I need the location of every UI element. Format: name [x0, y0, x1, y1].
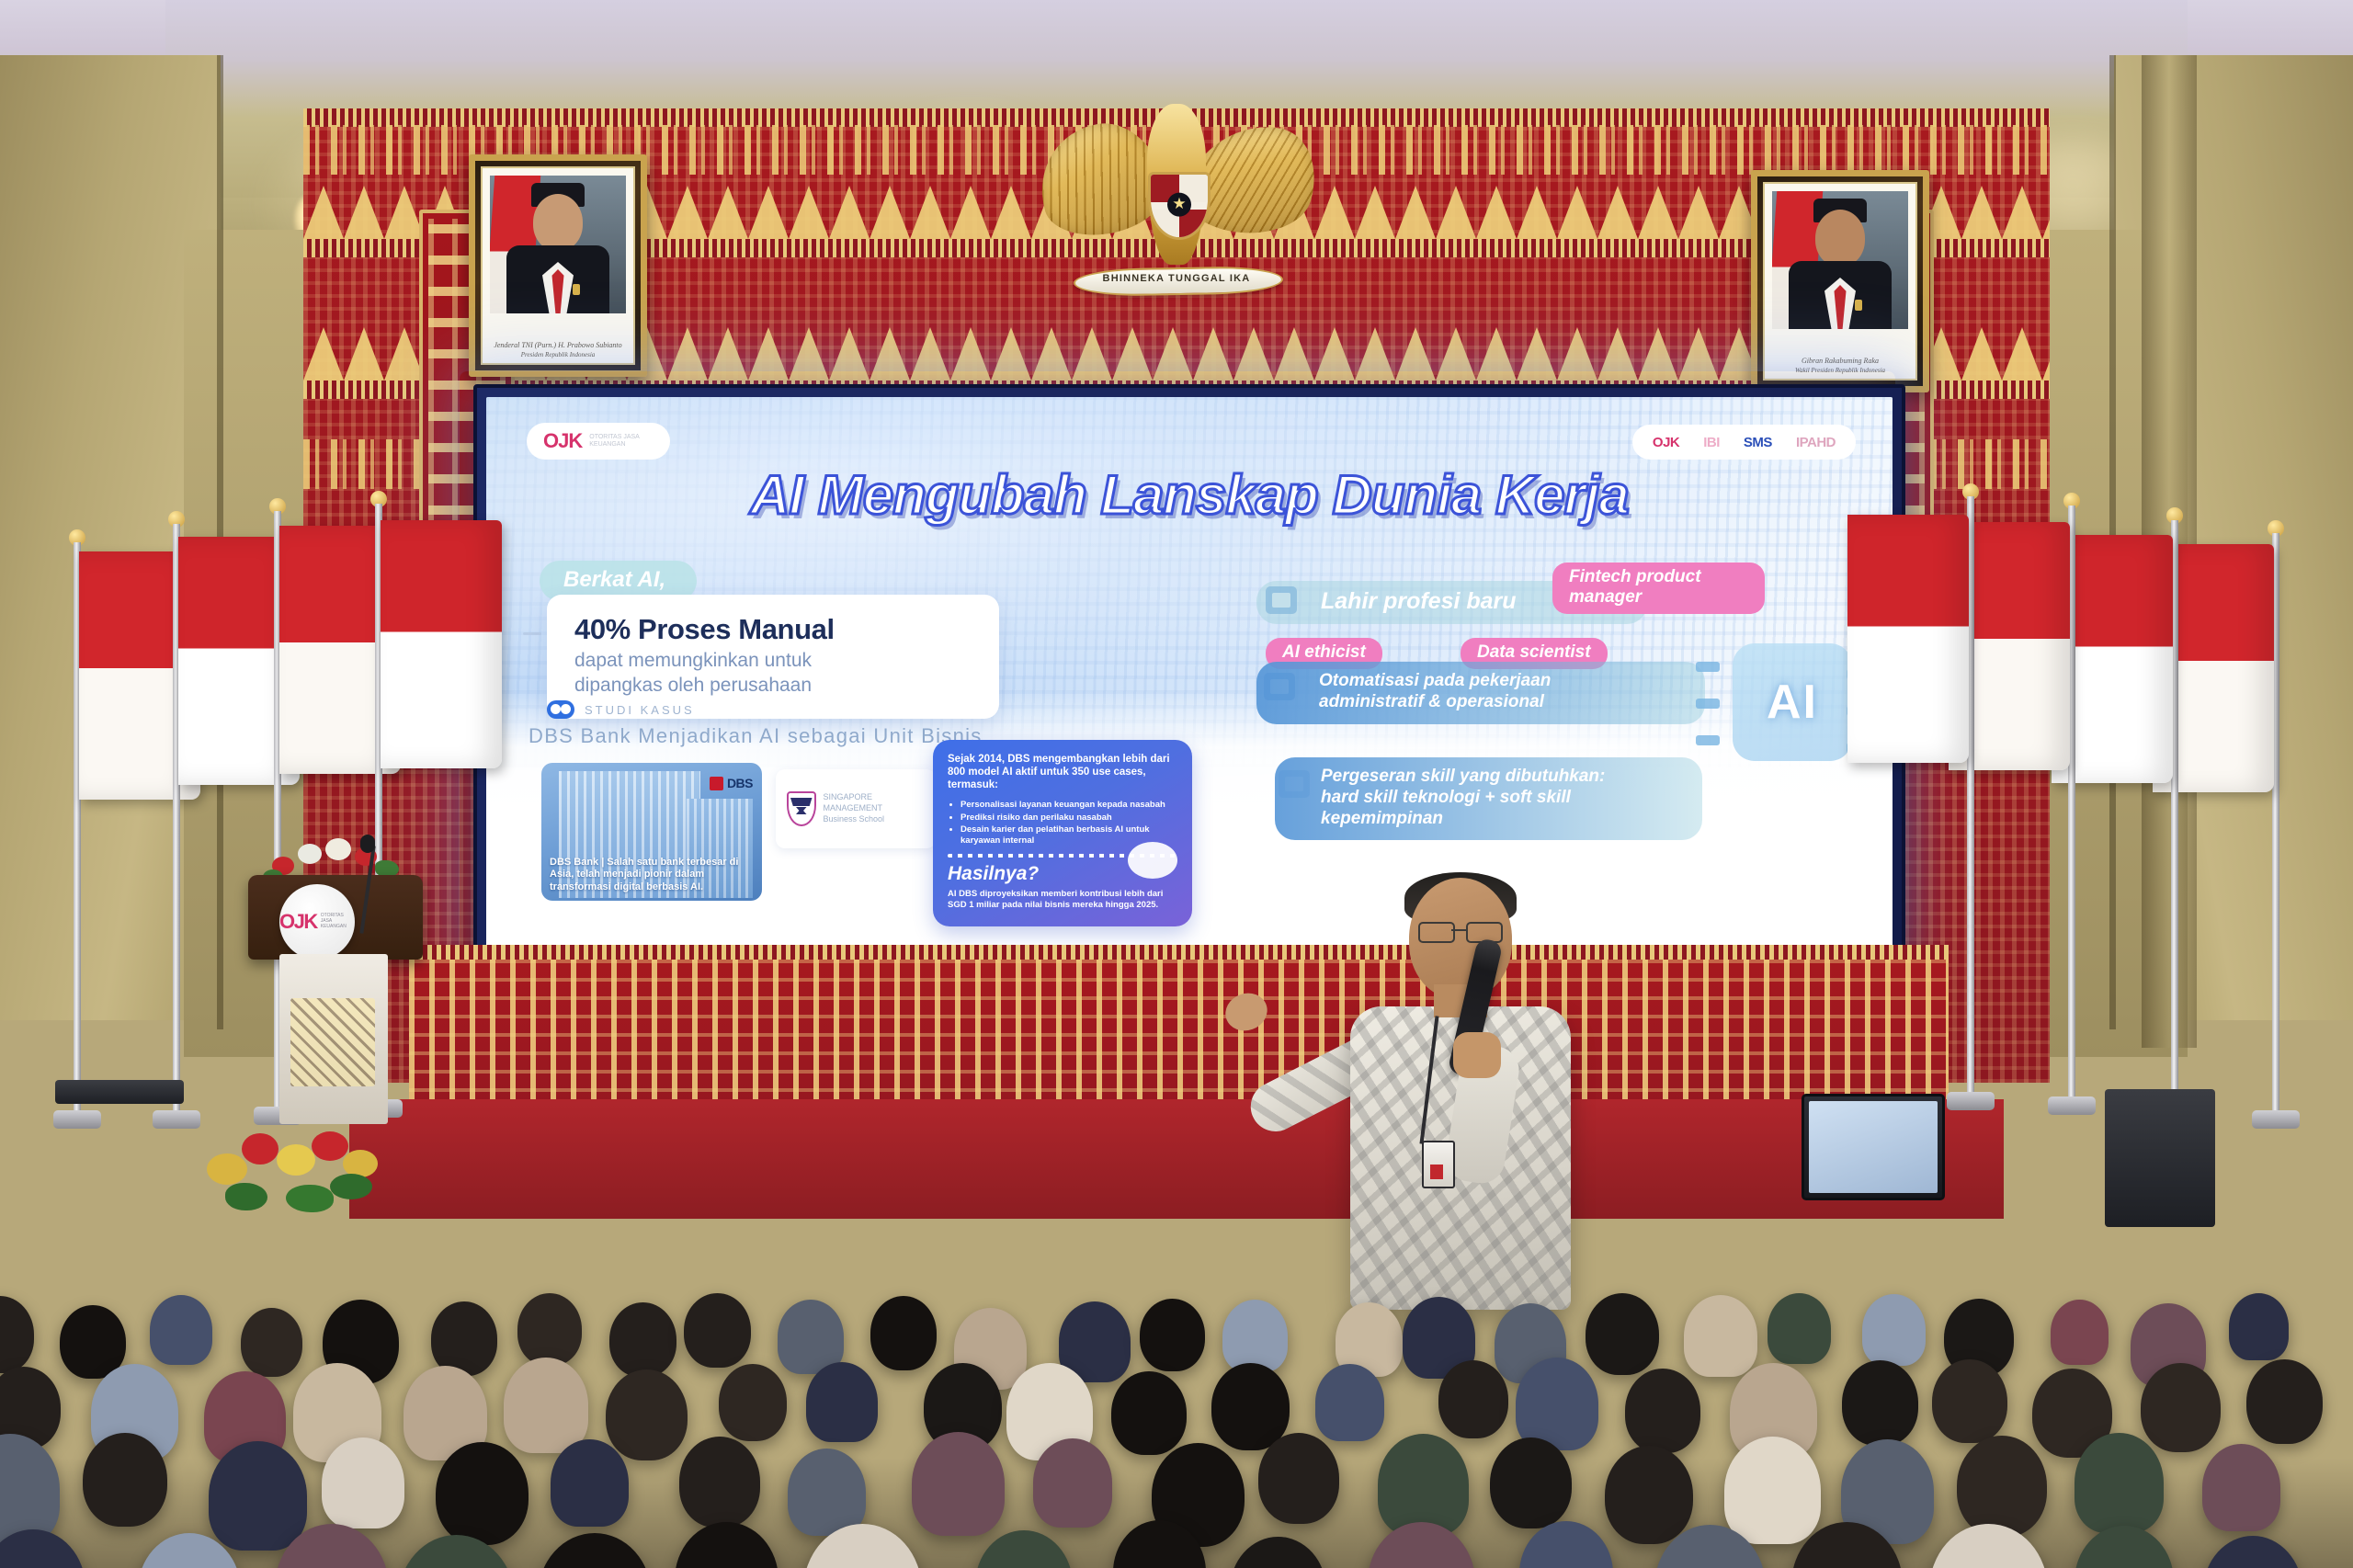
ojk-logo-mark: OJK	[543, 429, 582, 453]
backdrop-triangle	[1436, 327, 1476, 381]
backdrop-triangle	[1597, 186, 1638, 239]
pill-automation-line1: Otomatisasi pada pekerjaan	[1319, 671, 1551, 690]
backdrop-triangle	[789, 327, 829, 381]
backdrop-triangle	[910, 327, 950, 381]
business-school-logo: SINGAPORE MANAGEMENT Business School	[776, 769, 936, 848]
backdrop-triangle	[950, 186, 991, 239]
vice-president-portrait: Gibran Rakabuming Raka Wakil Presiden Re…	[1751, 170, 1929, 392]
shield-crest-icon	[787, 791, 816, 826]
audience-member	[1438, 1360, 1508, 1438]
slide-ojk-logo: OJK OTORITAS JASA KEUANGAN	[527, 423, 670, 460]
audience-member	[517, 1293, 582, 1366]
backdrop-triangle	[1436, 186, 1476, 239]
backdrop-triangle	[950, 327, 991, 381]
backdrop-triangle	[870, 186, 910, 239]
case-study-label-row: STUDI KASUS	[547, 700, 695, 719]
partner-logo-3: IPAHD	[1796, 435, 1836, 450]
dbs-card-intro: Sejak 2014, DBS mengembangkan lebih dari…	[948, 753, 1177, 791]
ai-chip-badge: AI	[1733, 643, 1852, 761]
backdrop-triangle	[1961, 186, 2002, 239]
backdrop-triangle	[1314, 327, 1355, 381]
president-caption: Jenderal TNI (Purn.) H. Prabowo Subianto…	[484, 341, 631, 359]
slide-title: AI Mengubah Lanskap Dunia Kerja	[486, 463, 1893, 527]
audience-member	[1140, 1299, 1205, 1371]
decor-dash	[523, 632, 541, 635]
audience-member	[609, 1302, 676, 1378]
pill-automation-line2: administratif & operasional	[1319, 692, 1544, 711]
backdrop-triangle	[1112, 327, 1153, 381]
backdrop-triangle	[1031, 327, 1072, 381]
decor-bubble	[1128, 842, 1177, 879]
audience-member	[1111, 1371, 1187, 1455]
backdrop-triangle	[303, 327, 344, 381]
audience-member	[241, 1308, 302, 1377]
stat-headline: 40% Proses Manual	[574, 613, 979, 646]
tag-fintech-product-manager: Fintech product manager	[1552, 562, 1765, 614]
chip-leg	[1696, 699, 1720, 709]
audience-member	[1932, 1359, 2007, 1444]
eyeglasses-icon	[1418, 922, 1503, 940]
audience-member	[0, 1434, 60, 1545]
backdrop-triangle	[2002, 327, 2042, 381]
backdrop-triangle	[1638, 186, 1678, 239]
podium-logo-sub2: KEUANGAN	[321, 924, 347, 929]
audience-member	[870, 1296, 937, 1370]
backdrop-triangle	[991, 186, 1031, 239]
case-study-label: STUDI KASUS	[585, 703, 695, 717]
garuda-motto-banner: BHINNEKA TUNGGAL IKA	[1074, 260, 1279, 297]
backdrop-triangle	[1355, 186, 1395, 239]
backdrop-triangle	[1355, 327, 1395, 381]
slide-partner-logos: OJK IBI SMS IPAHD	[1632, 425, 1856, 460]
backdrop-triangle	[303, 186, 344, 239]
audience-member	[1222, 1300, 1288, 1372]
backdrop-triangle	[1517, 327, 1557, 381]
backdrop-triangle	[667, 186, 708, 239]
podium-ojk-logo: OJK OTORITAS JASA KEUANGAN	[279, 884, 355, 960]
audience-member	[679, 1437, 760, 1527]
dbs-result-text: AI DBS diproyeksikan memberi kontribusi …	[948, 889, 1177, 911]
seminar-hall-photo: ★ BHINNEKA TUNGGAL IKA Jenderal TNI (Pur…	[0, 0, 2353, 1568]
backdrop-triangle	[1476, 327, 1517, 381]
audience-member	[431, 1301, 497, 1376]
backdrop-triangle	[708, 327, 748, 381]
audience-member	[322, 1437, 404, 1529]
audience-member	[1211, 1363, 1290, 1450]
dbs-stats-card: Sejak 2014, DBS mengembangkan lebih dari…	[933, 740, 1192, 926]
stat-subtext-line2: dipangkas oleh perusahaan	[574, 675, 812, 696]
backdrop-triangle	[1557, 186, 1597, 239]
backdrop-triangle	[1274, 327, 1314, 381]
audience-member	[788, 1449, 866, 1536]
president-caption-line2: Presiden Republik Indonesia	[484, 351, 631, 359]
audience-member	[1586, 1293, 1659, 1376]
backdrop-triangle	[1557, 327, 1597, 381]
ai-badge-text: AI	[1767, 675, 1818, 730]
backdrop-triangle	[1233, 327, 1274, 381]
backdrop-triangle	[829, 327, 870, 381]
backdrop-triangle	[991, 327, 1031, 381]
audience-member	[2229, 1293, 2289, 1360]
backdrop-triangle	[1395, 327, 1436, 381]
backdrop-triangle	[1638, 327, 1678, 381]
audience-member	[209, 1441, 307, 1551]
backdrop-triangle	[1314, 186, 1355, 239]
ojk-logo-sub1: OTORITAS JASA	[589, 434, 640, 440]
backdrop-triangle	[1153, 327, 1193, 381]
backdrop-triangle	[667, 327, 708, 381]
dbs-card-bullets: Personalisasi layanan keuangan kepada na…	[961, 800, 1177, 846]
backdrop-triangle	[1597, 327, 1638, 381]
audience-member	[551, 1439, 629, 1527]
backdrop-triangle	[1517, 186, 1557, 239]
partner-school-line1: SINGAPORE MANAGEMENT	[824, 792, 883, 812]
dbs-bullet-1: Prediksi risiko dan perilaku nasabah	[961, 812, 1177, 824]
pill-skill-shift: Pergeseran skill yang dibutuhkan: hard s…	[1275, 757, 1702, 840]
pill-skill-join: teknologi +	[1397, 788, 1499, 807]
backdrop-triangle	[1395, 186, 1436, 239]
ojk-logo-sub2: KEUANGAN	[589, 441, 625, 448]
audience-member	[684, 1293, 750, 1368]
led-screen: OJK OTORITAS JASA KEUANGAN OJK IBI SMS I…	[473, 384, 1905, 971]
presentation-slide: OJK OTORITAS JASA KEUANGAN OJK IBI SMS I…	[486, 397, 1893, 958]
vice-president-caption: Gibran Rakabuming Raka Wakil Presiden Re…	[1767, 357, 1914, 375]
partner-logo-2: SMS	[1744, 435, 1772, 450]
audience-member	[1033, 1438, 1113, 1528]
audience-member	[1258, 1433, 1339, 1524]
vp-caption-line2: Wakil Presiden Republik Indonesia	[1767, 367, 1914, 375]
audience	[0, 1017, 2353, 1568]
chip-leg	[1696, 735, 1720, 745]
audience-member	[1516, 1358, 1599, 1450]
dbs-logo-text: DBS	[727, 776, 753, 790]
audience-member	[1605, 1446, 1693, 1545]
backdrop-triangle	[1678, 186, 1719, 239]
backdrop-triangle	[1193, 327, 1233, 381]
dbs-photo-caption: DBS Bank | Salah satu bank terbesar di A…	[550, 857, 754, 893]
garuda-motto-text: BHINNEKA TUNGGAL IKA	[1074, 273, 1279, 284]
garuda-pancasila-emblem: ★ BHINNEKA TUNGGAL IKA	[1039, 87, 1314, 317]
audience-member	[150, 1295, 212, 1365]
podium-logo-sub1: OTORITAS JASA	[321, 913, 344, 924]
audience-member	[1684, 1295, 1757, 1378]
backdrop-triangle	[2042, 186, 2050, 239]
vp-caption-line1: Gibran Rakabuming Raka	[1767, 357, 1914, 367]
pancasila-shield: ★	[1148, 172, 1211, 240]
audience-member	[1768, 1293, 1831, 1364]
audience-member	[1378, 1434, 1469, 1536]
stat-subtext-line1: dapat memungkinkan untuk	[574, 650, 812, 671]
dbs-logo: DBS	[710, 776, 753, 790]
audience-member	[2246, 1359, 2322, 1444]
president-portrait: Jenderal TNI (Purn.) H. Prabowo Subianto…	[469, 154, 647, 377]
backdrop-triangle	[344, 186, 384, 239]
audience-member	[1724, 1437, 1821, 1544]
podium-logo-mark: OJK	[279, 910, 317, 934]
audience-member	[1315, 1364, 1384, 1441]
backdrop-triangle	[1678, 327, 1719, 381]
audience-member	[1862, 1294, 1926, 1366]
case-study-icon	[547, 700, 574, 719]
backdrop-triangle	[344, 327, 384, 381]
partner-logo-1: IBI	[1703, 435, 1720, 450]
backdrop-triangle	[1961, 327, 2002, 381]
vice-president-photo	[1772, 191, 1908, 329]
backdrop-triangle	[1476, 186, 1517, 239]
audience-member	[1957, 1436, 2047, 1537]
audience-member	[1842, 1360, 1918, 1446]
partner-logo-0: OJK	[1653, 435, 1679, 450]
pill-skill-line3: kepemimpinan	[1321, 809, 1443, 828]
backdrop-triangle	[870, 327, 910, 381]
partner-school-line2: Business School	[824, 814, 885, 824]
audience-member	[912, 1432, 1004, 1535]
audience-member	[83, 1433, 167, 1528]
audience-member	[2141, 1363, 2221, 1452]
backdrop-triangle	[829, 186, 870, 239]
dbs-bullet-0: Personalisasi layanan keuangan kepada na…	[961, 800, 1177, 811]
audience-member	[2202, 1444, 2280, 1531]
audience-member	[0, 1296, 34, 1373]
audience-member	[2075, 1433, 2164, 1533]
audience-member	[806, 1362, 878, 1443]
backdrop-triangle	[2002, 186, 2042, 239]
case-study-heading: DBS Bank Menjadikan AI sebagai Unit Bisn…	[529, 724, 983, 748]
backdrop-triangle	[910, 186, 950, 239]
pill-skill-hardskill: hard skill	[1321, 788, 1397, 807]
audience-member	[436, 1442, 528, 1545]
pill-skill-softskill: soft skill	[1500, 788, 1571, 807]
chip-leg	[1696, 662, 1720, 672]
pill-automation: Otomatisasi pada pekerjaan administratif…	[1256, 662, 1705, 724]
audience-member	[504, 1358, 589, 1453]
audience-member	[1490, 1437, 1572, 1528]
audience-member	[1625, 1369, 1700, 1452]
backdrop-triangle	[789, 186, 829, 239]
backdrop-triangle	[708, 186, 748, 239]
backdrop-triangle	[748, 327, 789, 381]
backdrop-triangle	[2042, 327, 2050, 381]
president-caption-line1: Jenderal TNI (Purn.) H. Prabowo Subianto	[484, 341, 631, 351]
audience-member	[719, 1364, 788, 1441]
backdrop-triangle	[1072, 327, 1112, 381]
president-photo	[490, 176, 626, 313]
pill-skill-line1: Pergeseran skill yang dibutuhkan:	[1321, 767, 1605, 786]
microphone-icon	[360, 835, 375, 853]
audience-member	[2051, 1300, 2109, 1365]
audience-member	[606, 1369, 688, 1460]
backdrop-triangle	[748, 186, 789, 239]
dbs-building-photo: DBS DBS Bank | Salah satu bank terbesar …	[541, 763, 762, 901]
